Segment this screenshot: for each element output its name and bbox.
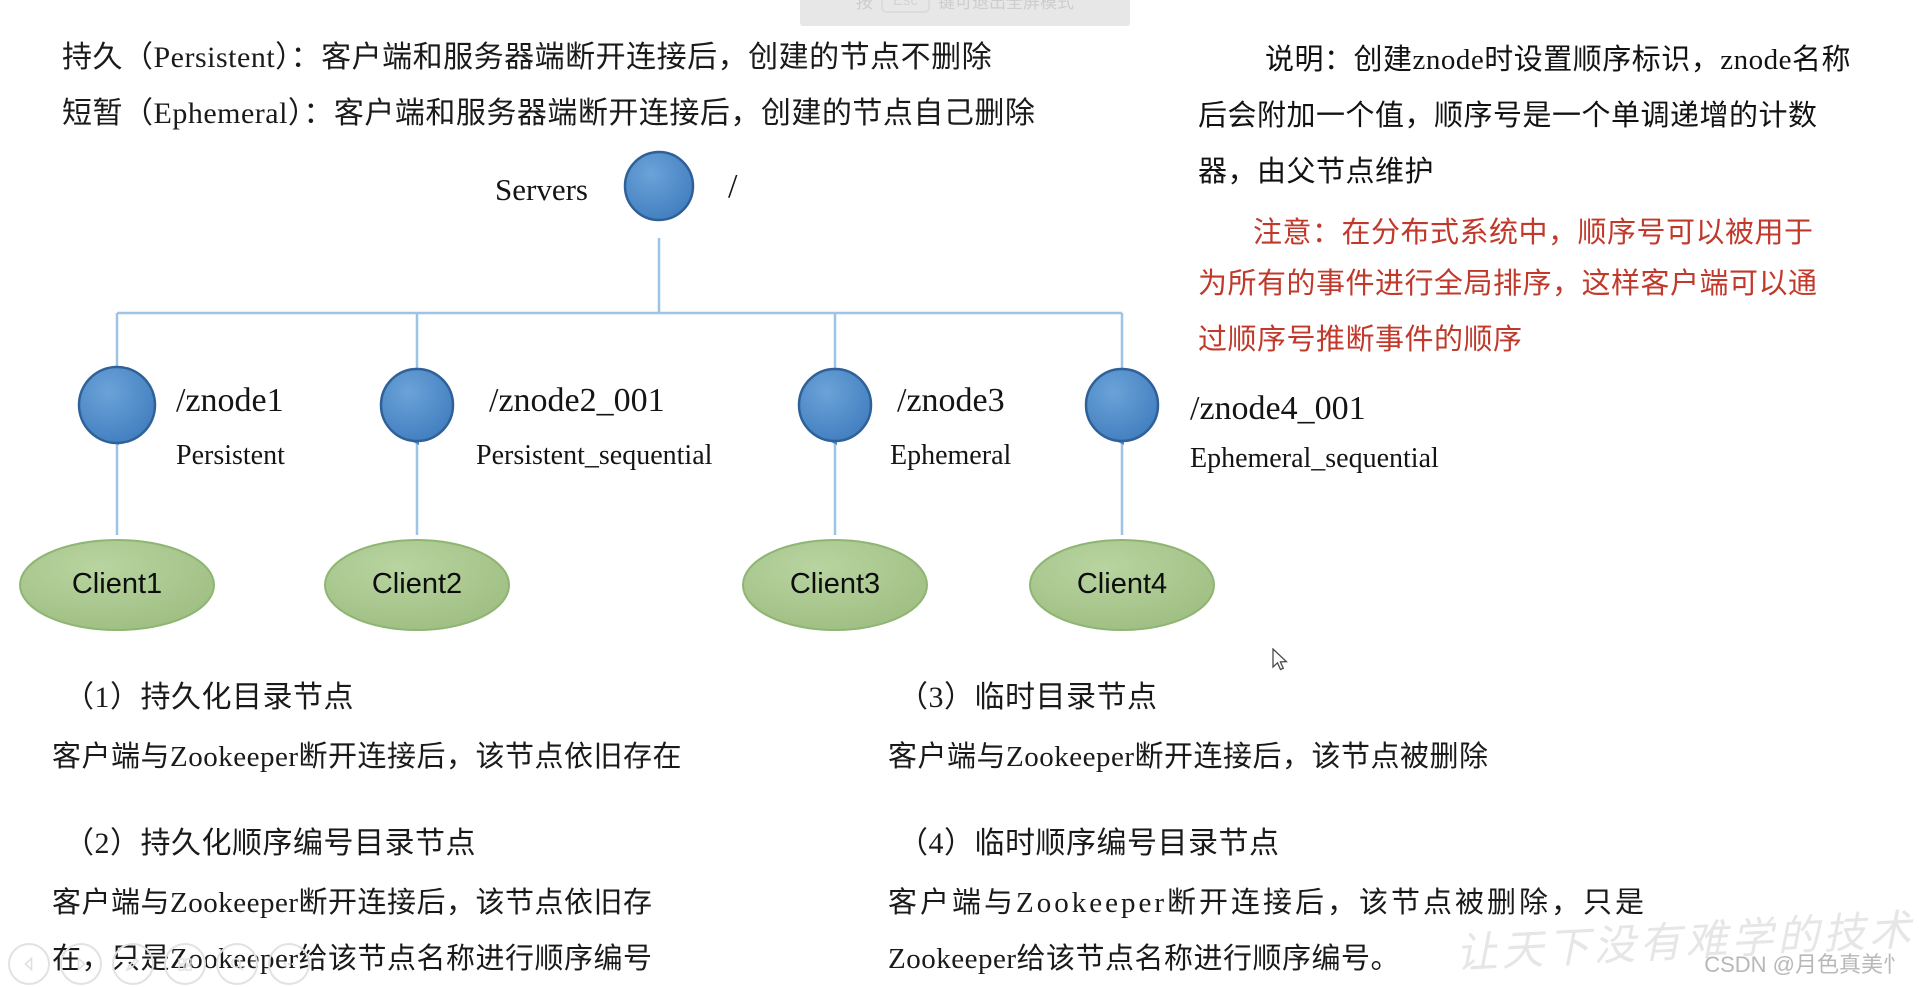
client1-label: Client1 <box>17 568 217 601</box>
znode-tree-diagram: Servers / /znode1 Persistent /znode2_001… <box>0 150 1919 670</box>
root-path-label: / <box>728 168 737 206</box>
explanation-2-heading: （2）持久化顺序编号目录节点 <box>64 818 476 862</box>
znode2-path: /znode2_001 <box>489 382 665 420</box>
explanation-4-body-line-1: 客户端与Zookeeper断开连接后，该节点被删除，只是 <box>888 879 1647 921</box>
znode1-path: /znode1 <box>176 382 284 420</box>
znode3-kind: Ephemeral <box>890 440 1011 472</box>
explanation-1-body-line-1: 客户端与Zookeeper断开连接后，该节点依旧存在 <box>52 733 682 775</box>
esc-key-badge: Esc <box>881 0 930 13</box>
definition-persistent: 持久（Persistent）：客户端和服务器端断开连接后，创建的节点不删除 <box>62 32 992 76</box>
pen-icon[interactable] <box>112 943 154 985</box>
client4-label: Client4 <box>1027 568 1217 601</box>
previous-slide-icon[interactable] <box>8 943 50 985</box>
client2-label: Client2 <box>322 568 512 601</box>
znode2-kind: Persistent_sequential <box>476 440 712 472</box>
explanation-2-body-line-1: 客户端与Zookeeper断开连接后，该节点依旧存 <box>52 879 653 921</box>
next-slide-icon[interactable] <box>60 943 102 985</box>
mouse-cursor <box>1272 648 1290 674</box>
more-options-icon[interactable] <box>268 943 310 985</box>
explanation-1-heading: （1）持久化目录节点 <box>64 672 354 716</box>
csdn-watermark: CSDN @月色真美忄 <box>1704 947 1905 979</box>
fullscreen-hint-suffix: 键可退出全屏模式 <box>938 0 1074 13</box>
magnifier-icon[interactable] <box>216 943 258 985</box>
definition-ephemeral: 短暂（Ephemeral）：客户端和服务器端断开连接后，创建的节点自己删除 <box>62 88 1035 132</box>
znode3-path: /znode3 <box>897 382 1005 420</box>
explanation-3-body-line-1: 客户端与Zookeeper断开连接后，该节点被删除 <box>888 733 1489 775</box>
znode1-kind: Persistent <box>176 440 285 472</box>
fullscreen-exit-hint: 按 Esc 键可退出全屏模式 <box>800 0 1130 26</box>
slide-canvas: 按 Esc 键可退出全屏模式 持久（Persistent）：客户端和服务器端断开… <box>0 0 1919 987</box>
explanation-4-heading: （4）临时顺序编号目录节点 <box>898 818 1280 862</box>
znode4-path: /znode4_001 <box>1190 390 1366 428</box>
servers-label: Servers <box>495 172 588 208</box>
slide-overview-icon[interactable] <box>164 943 206 985</box>
znode4-kind: Ephemeral_sequential <box>1190 443 1439 475</box>
client3-label: Client3 <box>740 568 930 601</box>
explanation-3-heading: （3）临时目录节点 <box>898 672 1158 716</box>
fullscreen-hint-prefix: 按 <box>856 0 873 13</box>
presentation-toolbar <box>8 943 310 985</box>
note-line-1: 说明：创建znode时设置顺序标识，znode名称 <box>1265 36 1851 78</box>
note-line-2: 后会附加一个值，顺序号是一个单调递增的计数 <box>1198 92 1818 134</box>
explanation-4-body-line-2: Zookeeper给该节点名称进行顺序编号。 <box>888 935 1400 977</box>
